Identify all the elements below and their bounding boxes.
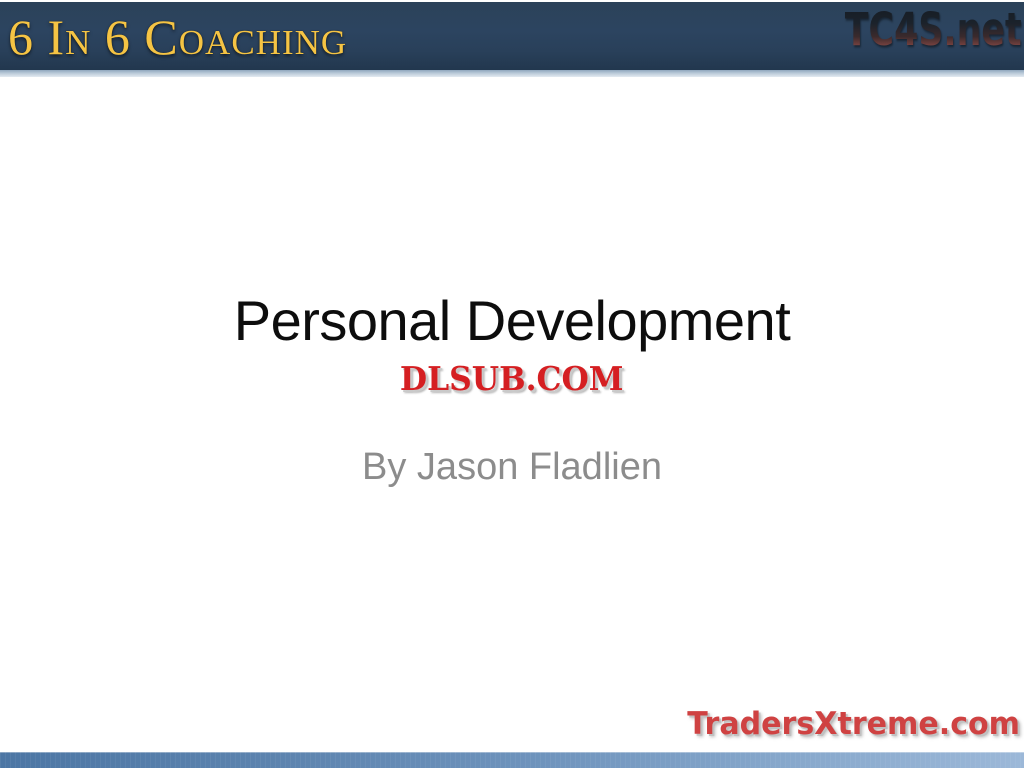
watermark-label: DLSUB.COM [400, 360, 624, 398]
footer-brand-logo: TradersXtreme.com [687, 705, 1020, 743]
slide-header-banner: 6 In 6 Coaching TC4S.net [0, 2, 1024, 70]
presentation-slide: 6 In 6 Coaching TC4S.net Personal Develo… [0, 0, 1024, 768]
page-title: Personal Development [0, 290, 1024, 352]
watermark-badge: DLSUB.COM [0, 360, 1024, 398]
footer-accent-bar [0, 752, 1024, 768]
slide-footer: TradersXtreme.com [0, 675, 1024, 768]
page-subtitle: By Jason Fladlien [0, 444, 1024, 490]
banner-underline-divider [0, 70, 1024, 77]
site-brand-logo: TC4S.net [845, 2, 1022, 58]
slide-body: Personal Development DLSUB.COM By Jason … [0, 77, 1024, 675]
course-title: 6 In 6 Coaching [8, 6, 347, 68]
